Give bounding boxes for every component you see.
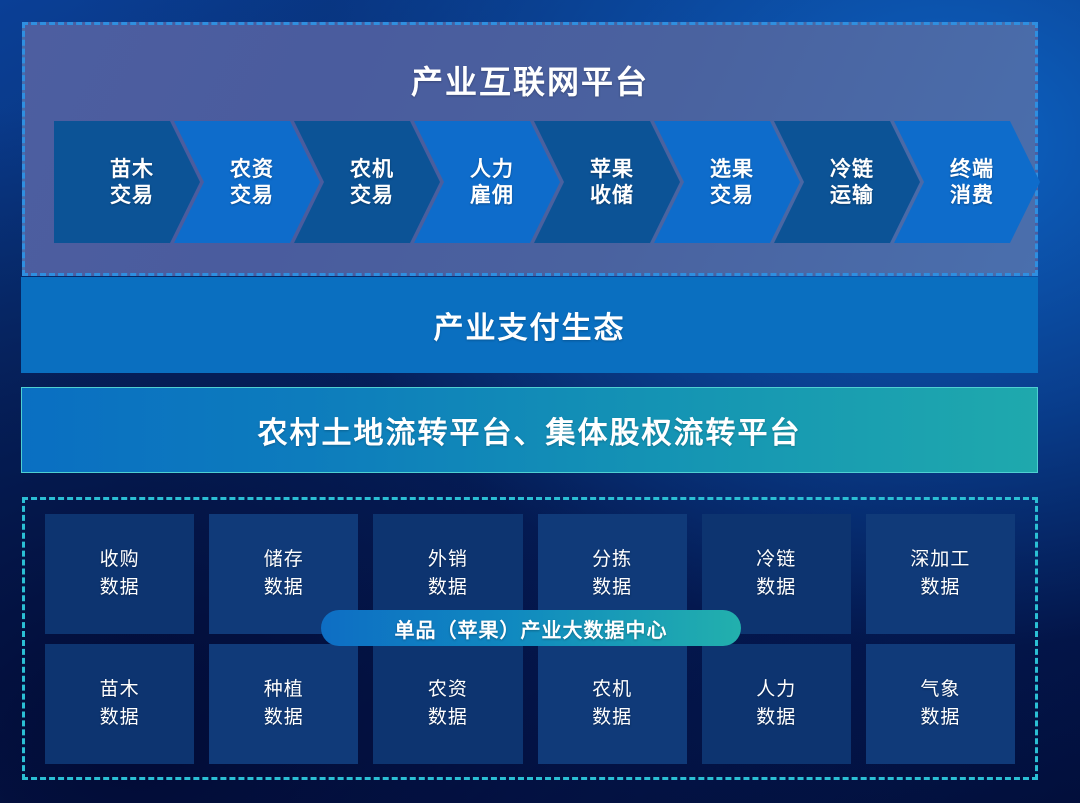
chevron-step-label: 苹果收储 [580,156,634,209]
data-card-line-2: 数据 [756,576,796,598]
data-card-line-1: 气象 [920,678,960,700]
chevron-line-1: 农机 [350,157,394,181]
data-card-line-2: 数据 [264,576,304,598]
chevron-line-1: 农资 [230,157,274,181]
data-card-line-1: 人力 [756,678,796,700]
data-card-line-2: 数据 [100,576,140,598]
chevron-line-2: 雇佣 [470,183,514,207]
data-card-line-1: 种植 [264,678,304,700]
land-transfer-band: 农村土地流转平台、集体股权流转平台 [21,387,1038,473]
industrial-internet-platform-panel: 产业互联网平台 苗木交易农资交易农机交易人力雇佣苹果收储选果交易冷链运输终端消费 [22,22,1038,276]
big-data-region: 收购数据储存数据外销数据分拣数据冷链数据深加工数据苗木数据种植数据农资数据农机数… [22,497,1038,780]
data-card-line-2: 数据 [920,576,960,598]
chevron-line-1: 冷链 [830,157,874,181]
data-card[interactable]: 深加工数据 [866,514,1015,634]
data-card[interactable]: 种植数据 [209,644,358,764]
chevron-line-1: 终端 [950,157,994,181]
big-data-center-pill: 单品（苹果）产业大数据中心 [321,610,741,646]
data-card-line-2: 数据 [920,706,960,728]
data-card-line-1: 收购 [100,548,140,570]
chevron-line-2: 交易 [230,183,274,207]
data-card-line-2: 数据 [100,706,140,728]
data-card-label: 深加工数据 [910,546,970,601]
page-title: 产业互联网平台 [25,57,1035,103]
data-card-line-2: 数据 [756,706,796,728]
chevron-line-2: 消费 [950,183,994,207]
chevron-line-1: 人力 [470,157,514,181]
data-card-line-1: 苗木 [100,678,140,700]
data-card-label: 分拣数据 [592,546,632,601]
data-card-line-2: 数据 [264,706,304,728]
chevron-step-label: 苗木交易 [100,156,154,209]
value-chain-chevron-strip: 苗木交易农资交易农机交易人力雇佣苹果收储选果交易冷链运输终端消费 [54,121,1014,243]
data-card-label: 农资数据 [428,676,468,731]
chevron-line-2: 交易 [710,183,754,207]
data-card-label: 苗木数据 [100,676,140,731]
data-card-line-2: 数据 [428,706,468,728]
data-card-line-2: 数据 [428,576,468,598]
data-card[interactable]: 人力数据 [702,644,851,764]
data-card-line-1: 分拣 [592,548,632,570]
data-card[interactable]: 苗木数据 [45,644,194,764]
chevron-step-label: 农机交易 [340,156,394,209]
data-card[interactable]: 收购数据 [45,514,194,634]
data-card-line-1: 深加工 [910,548,970,570]
chevron-step-label: 冷链运输 [820,156,874,209]
chevron-line-2: 运输 [830,183,874,207]
chevron-step[interactable]: 苗木交易 [54,121,200,243]
data-card-label: 农机数据 [592,676,632,731]
payment-ecosystem-band: 产业支付生态 [21,277,1038,373]
data-card-line-2: 数据 [592,706,632,728]
data-card-label: 人力数据 [756,676,796,731]
data-card[interactable]: 气象数据 [866,644,1015,764]
data-card[interactable]: 农机数据 [538,644,687,764]
chevron-step-label: 农资交易 [220,156,274,209]
chevron-line-2: 交易 [110,183,154,207]
chevron-step-label: 终端消费 [940,156,994,209]
data-card-line-1: 农机 [592,678,632,700]
chevron-line-1: 苗木 [110,157,154,181]
chevron-line-2: 交易 [350,183,394,207]
data-card-label: 储存数据 [264,546,304,601]
data-card-label: 气象数据 [920,676,960,731]
chevron-line-2: 收储 [590,183,634,207]
payment-ecosystem-label: 产业支付生态 [434,303,626,347]
data-card[interactable]: 农资数据 [373,644,522,764]
chevron-line-1: 选果 [710,157,754,181]
data-card-line-1: 外销 [428,548,468,570]
chevron-step-label: 选果交易 [700,156,754,209]
chevron-line-1: 苹果 [590,157,634,181]
data-card-label: 收购数据 [100,546,140,601]
data-card-line-1: 储存 [264,548,304,570]
data-card-label: 冷链数据 [756,546,796,601]
land-transfer-label: 农村土地流转平台、集体股权流转平台 [258,408,802,452]
data-card-line-2: 数据 [592,576,632,598]
data-card-line-1: 农资 [428,678,468,700]
data-card-line-1: 冷链 [756,548,796,570]
data-card-label: 外销数据 [428,546,468,601]
diagram-canvas: 产业互联网平台 苗木交易农资交易农机交易人力雇佣苹果收储选果交易冷链运输终端消费… [0,0,1080,803]
chevron-step-label: 人力雇佣 [460,156,514,209]
data-card-label: 种植数据 [264,676,304,731]
